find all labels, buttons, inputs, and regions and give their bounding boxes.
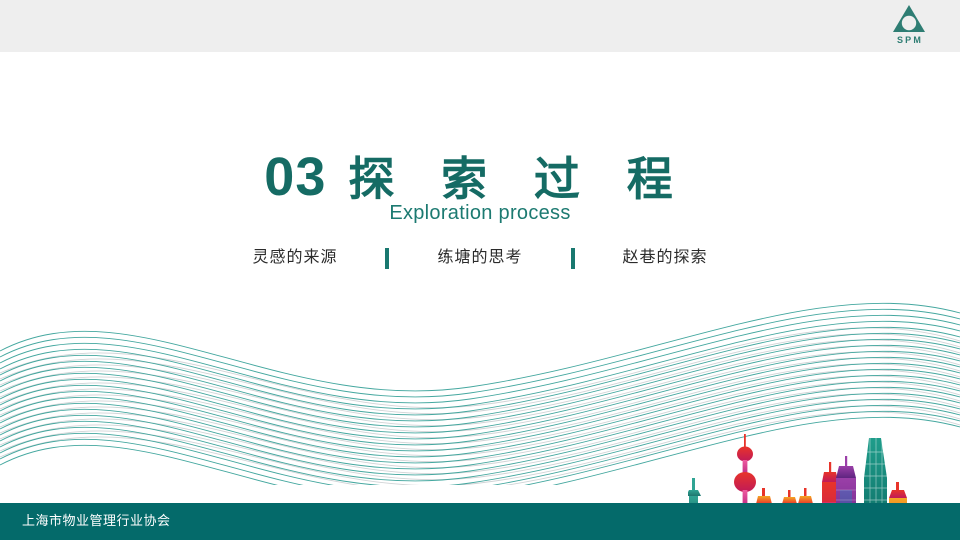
spm-logo: SPM	[878, 4, 940, 48]
footer-organization: 上海市物业管理行业协会	[22, 511, 171, 531]
top-bar	[0, 0, 960, 52]
slide-root: SPM	[0, 0, 960, 540]
section-number: 03	[264, 148, 326, 206]
page-subtitle: Exploration process	[0, 202, 960, 224]
agenda-list: 灵感的来源 练塘的思考 赵巷的探索	[0, 247, 960, 269]
agenda-item-1[interactable]: 灵感的来源	[246, 247, 343, 269]
title-row: 03 探 索 过 程	[0, 148, 960, 208]
page-title: 探 索 过 程	[348, 150, 695, 208]
spm-triangle-icon	[892, 4, 926, 34]
spm-logo-text: SPM	[895, 35, 923, 45]
title-block: 03 探 索 过 程 Exploration process	[0, 148, 960, 224]
agenda-separator-1	[385, 248, 389, 269]
agenda-separator-2	[571, 248, 575, 269]
agenda-item-3[interactable]: 赵巷的探索	[617, 247, 714, 269]
agenda-item-2[interactable]: 练塘的思考	[431, 247, 528, 269]
